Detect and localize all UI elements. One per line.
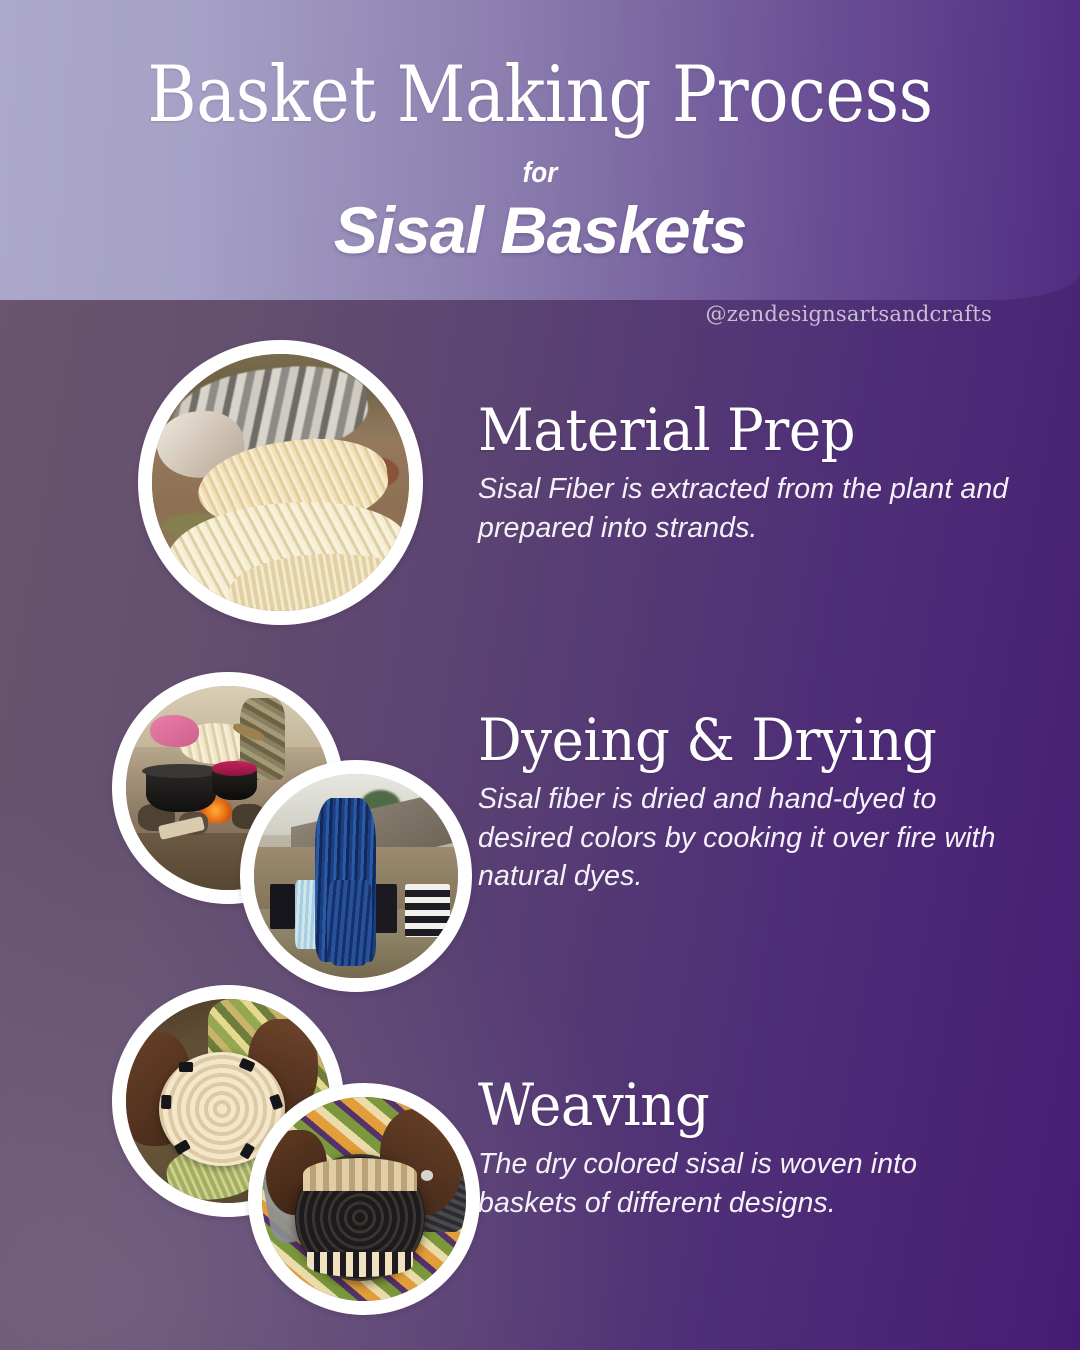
photo-circle-blue-dyed-fiber bbox=[240, 760, 472, 992]
basket-motif bbox=[179, 1062, 193, 1072]
blue-dyed-sisal-lower bbox=[327, 880, 372, 966]
scene-blue-dyed-fiber-drying bbox=[254, 774, 458, 978]
step-row-2: Dyeing & Drying Sisal fiber is dried and… bbox=[0, 672, 1080, 992]
step-row-3: Weaving The dry colored sisal is woven i… bbox=[0, 985, 1080, 1305]
basket-band-bottom bbox=[307, 1252, 413, 1276]
dark-cloth-left bbox=[270, 884, 294, 929]
photo-circle-black-basket-weaving bbox=[248, 1083, 480, 1315]
step-3-text: Weaving The dry colored sisal is woven i… bbox=[478, 1075, 1008, 1222]
step-3-body: The dry colored sisal is woven into bask… bbox=[478, 1145, 1008, 1221]
step-3-heading: Weaving bbox=[478, 1075, 976, 1135]
striped-bag bbox=[405, 884, 450, 937]
step-1-body: Sisal Fiber is extracted from the plant … bbox=[478, 470, 1018, 546]
infographic-poster: Basket Making Process for Sisal Baskets … bbox=[0, 0, 1080, 1350]
step-1-text: Material Prep Sisal Fiber is extracted f… bbox=[478, 400, 1018, 547]
scene-hands-weaving-black-basket bbox=[262, 1097, 466, 1301]
pot-rim bbox=[142, 764, 220, 778]
page-subtitle: Sisal Baskets bbox=[0, 192, 1080, 268]
pink-sack bbox=[150, 715, 199, 748]
step-1-heading: Material Prep bbox=[478, 400, 986, 460]
social-handle: @zendesignsartsandcrafts bbox=[706, 302, 993, 326]
step-2-body: Sisal fiber is dried and hand-dyed to de… bbox=[478, 780, 1023, 895]
scene-sisal-fiber-drying bbox=[152, 354, 409, 611]
basket-band-top bbox=[303, 1158, 417, 1191]
photo-inner bbox=[254, 774, 458, 978]
page-title: Basket Making Process bbox=[76, 56, 1005, 134]
finger-ring bbox=[421, 1170, 433, 1180]
step-row-1: Material Prep Sisal Fiber is extracted f… bbox=[0, 340, 1080, 640]
header-band: Basket Making Process for Sisal Baskets bbox=[0, 0, 1080, 300]
step-2-heading: Dyeing & Drying bbox=[478, 710, 990, 770]
title-connector: for bbox=[54, 157, 1026, 190]
photo-inner bbox=[152, 354, 409, 611]
basket-motif bbox=[160, 1095, 171, 1110]
photo-circle-sisal-fiber bbox=[138, 340, 423, 625]
step-2-text: Dyeing & Drying Sisal fiber is dried and… bbox=[478, 710, 1023, 895]
red-dye-liquid bbox=[212, 761, 257, 775]
photo-inner bbox=[262, 1097, 466, 1301]
